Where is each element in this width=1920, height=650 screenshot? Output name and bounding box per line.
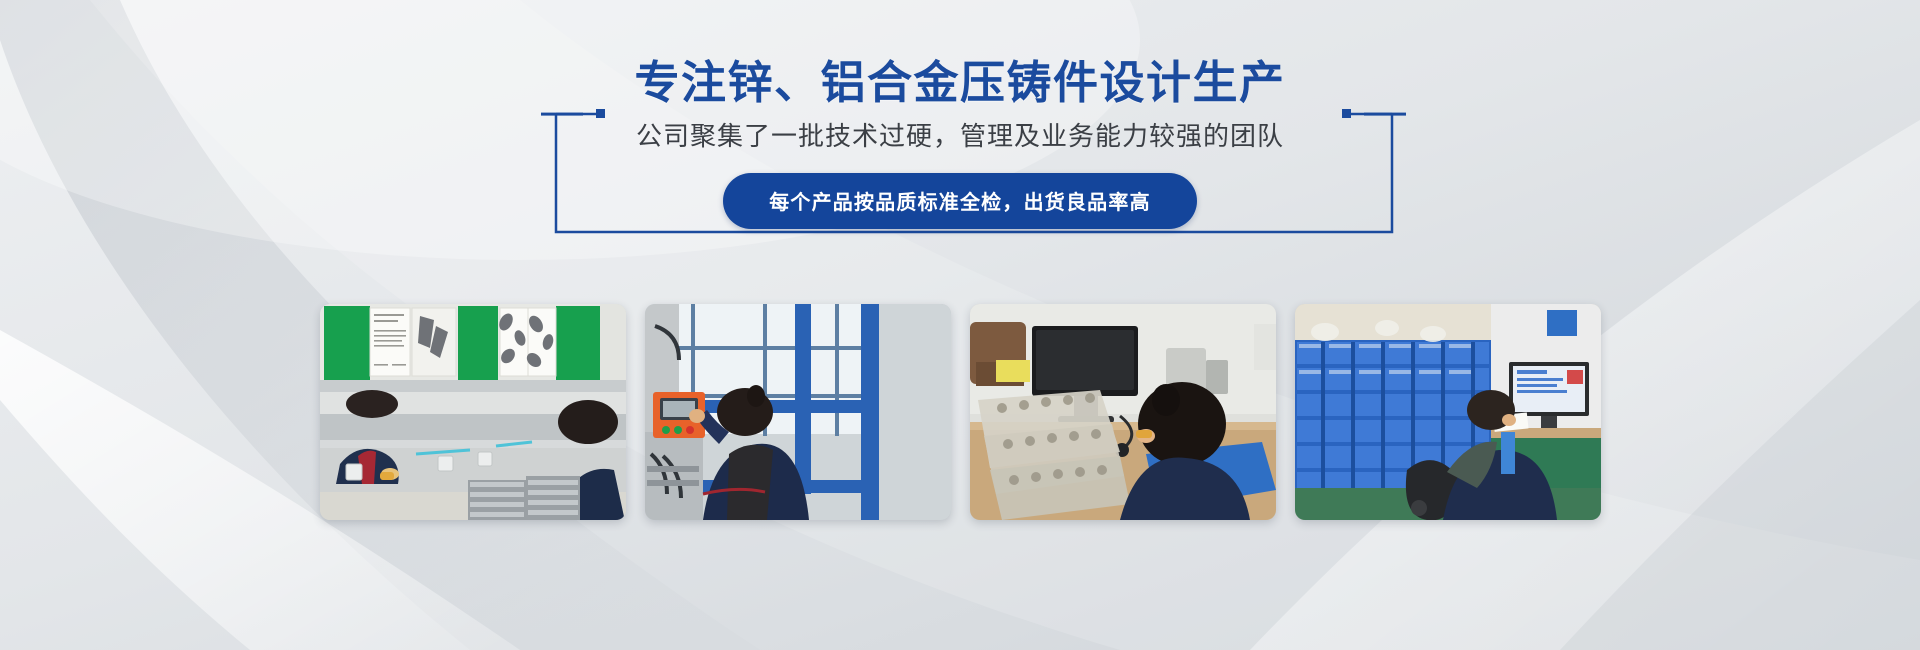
page-title: 专注锌、铝合金压铸件设计生产 — [634, 58, 1285, 108]
gallery-photo-1[interactable] — [320, 304, 626, 520]
gallery-photo-2[interactable] — [645, 304, 951, 520]
photo-gallery — [0, 300, 1920, 594]
quality-badge[interactable]: 每个产品按品质标准全检，出货良品率高 — [723, 173, 1197, 229]
gallery-photo-3[interactable] — [970, 304, 1276, 520]
headline-block: 专注锌、铝合金压铸件设计生产 公司聚集了一批技术过硬，管理及业务能力较强的团队 … — [0, 0, 1920, 300]
promo-banner: 专注锌、铝合金压铸件设计生产 公司聚集了一批技术过硬，管理及业务能力较强的团队 … — [0, 0, 1920, 650]
subtitle: 公司聚集了一批技术过硬，管理及业务能力较强的团队 — [636, 121, 1284, 152]
gallery-photo-4[interactable] — [1295, 304, 1601, 520]
